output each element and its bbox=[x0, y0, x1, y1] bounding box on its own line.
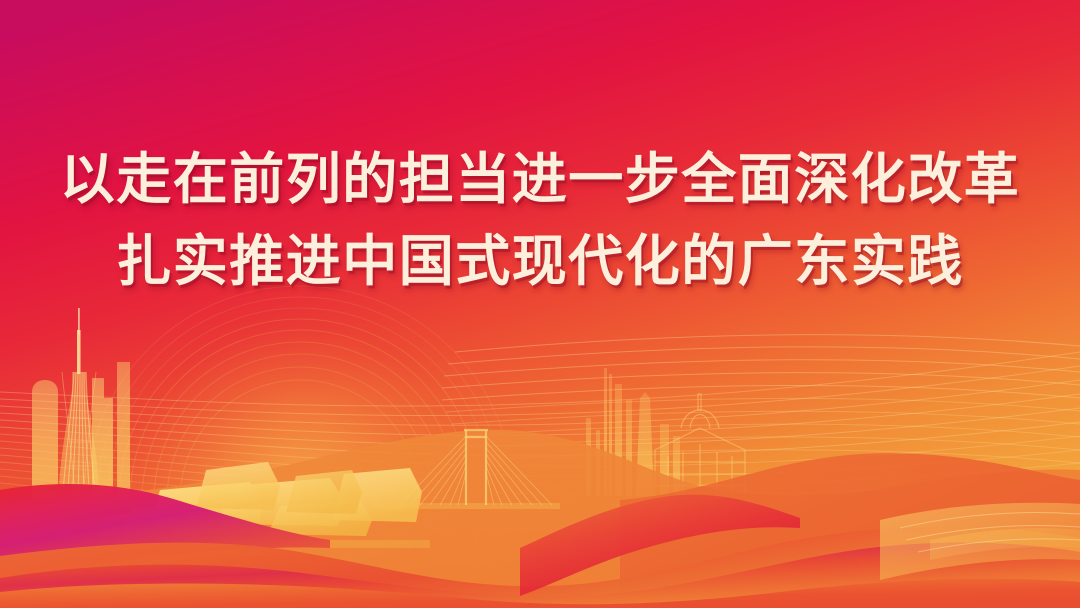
banner-poster: 以走在前列的担当进一步全面深化改革 扎实推进中国式现代化的广东实践 bbox=[0, 0, 1080, 608]
flowing-wave-bands bbox=[0, 0, 1080, 608]
